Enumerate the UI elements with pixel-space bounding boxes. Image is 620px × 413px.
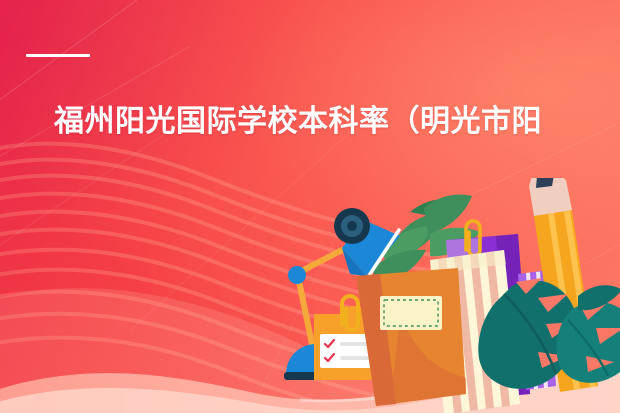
orange-notebook [356,268,466,406]
lamp-arm-lower [298,276,314,354]
school-supplies-illustration [280,178,620,413]
lamp-hub-core [347,221,357,231]
orange-notebook-label [380,296,442,330]
page-title: 福州阳光国际学校本科率（明光市阳 [54,103,620,141]
lamp-joint [288,266,306,284]
title-divider [26,54,90,57]
banner-image: 福州阳光国际学校本科率（明光市阳 [0,0,620,413]
